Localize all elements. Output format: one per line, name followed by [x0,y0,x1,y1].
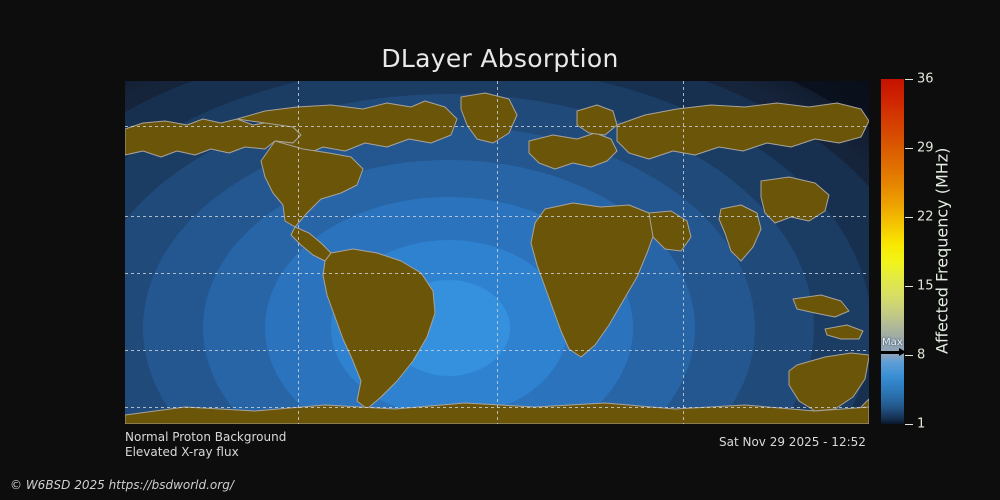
colorbar-tick-8 [905,355,913,356]
colorbar-tick-label-1: 1 [917,417,925,432]
colorbar-tick-29 [905,148,913,149]
colorbar-tick-15 [905,286,913,287]
colorbar-gradient [881,79,904,424]
chart-root: DLayer Absorption [0,0,1000,500]
status-line-xray: Elevated X-ray flux [125,445,239,459]
colorbar: Max 36 29 22 15 8 1 [881,79,904,424]
colorbar-axis-label: Affected Frequency (MHz) [930,75,954,427]
timestamp: Sat Nov 29 2025 - 12:52 [719,435,866,449]
colorbar-tick-22 [905,217,913,218]
footer-credit: © W6BSD 2025 https://bsdworld.org/ [10,478,234,492]
max-marker-arrow-icon [880,348,906,357]
gridline-lon-0 [683,81,684,424]
colorbar-tick-label-8: 8 [917,348,925,363]
gridline-lon-60w [497,81,498,424]
colorbar-tick-36 [905,79,913,80]
world-map-panel [125,81,869,424]
colorbar-tick-1 [905,424,913,425]
page-title: DLayer Absorption [0,44,1000,73]
max-marker: Max [880,338,906,357]
status-line-proton: Normal Proton Background [125,430,286,444]
gridline-lon-120w [298,81,299,424]
max-marker-label: Max [880,338,906,348]
